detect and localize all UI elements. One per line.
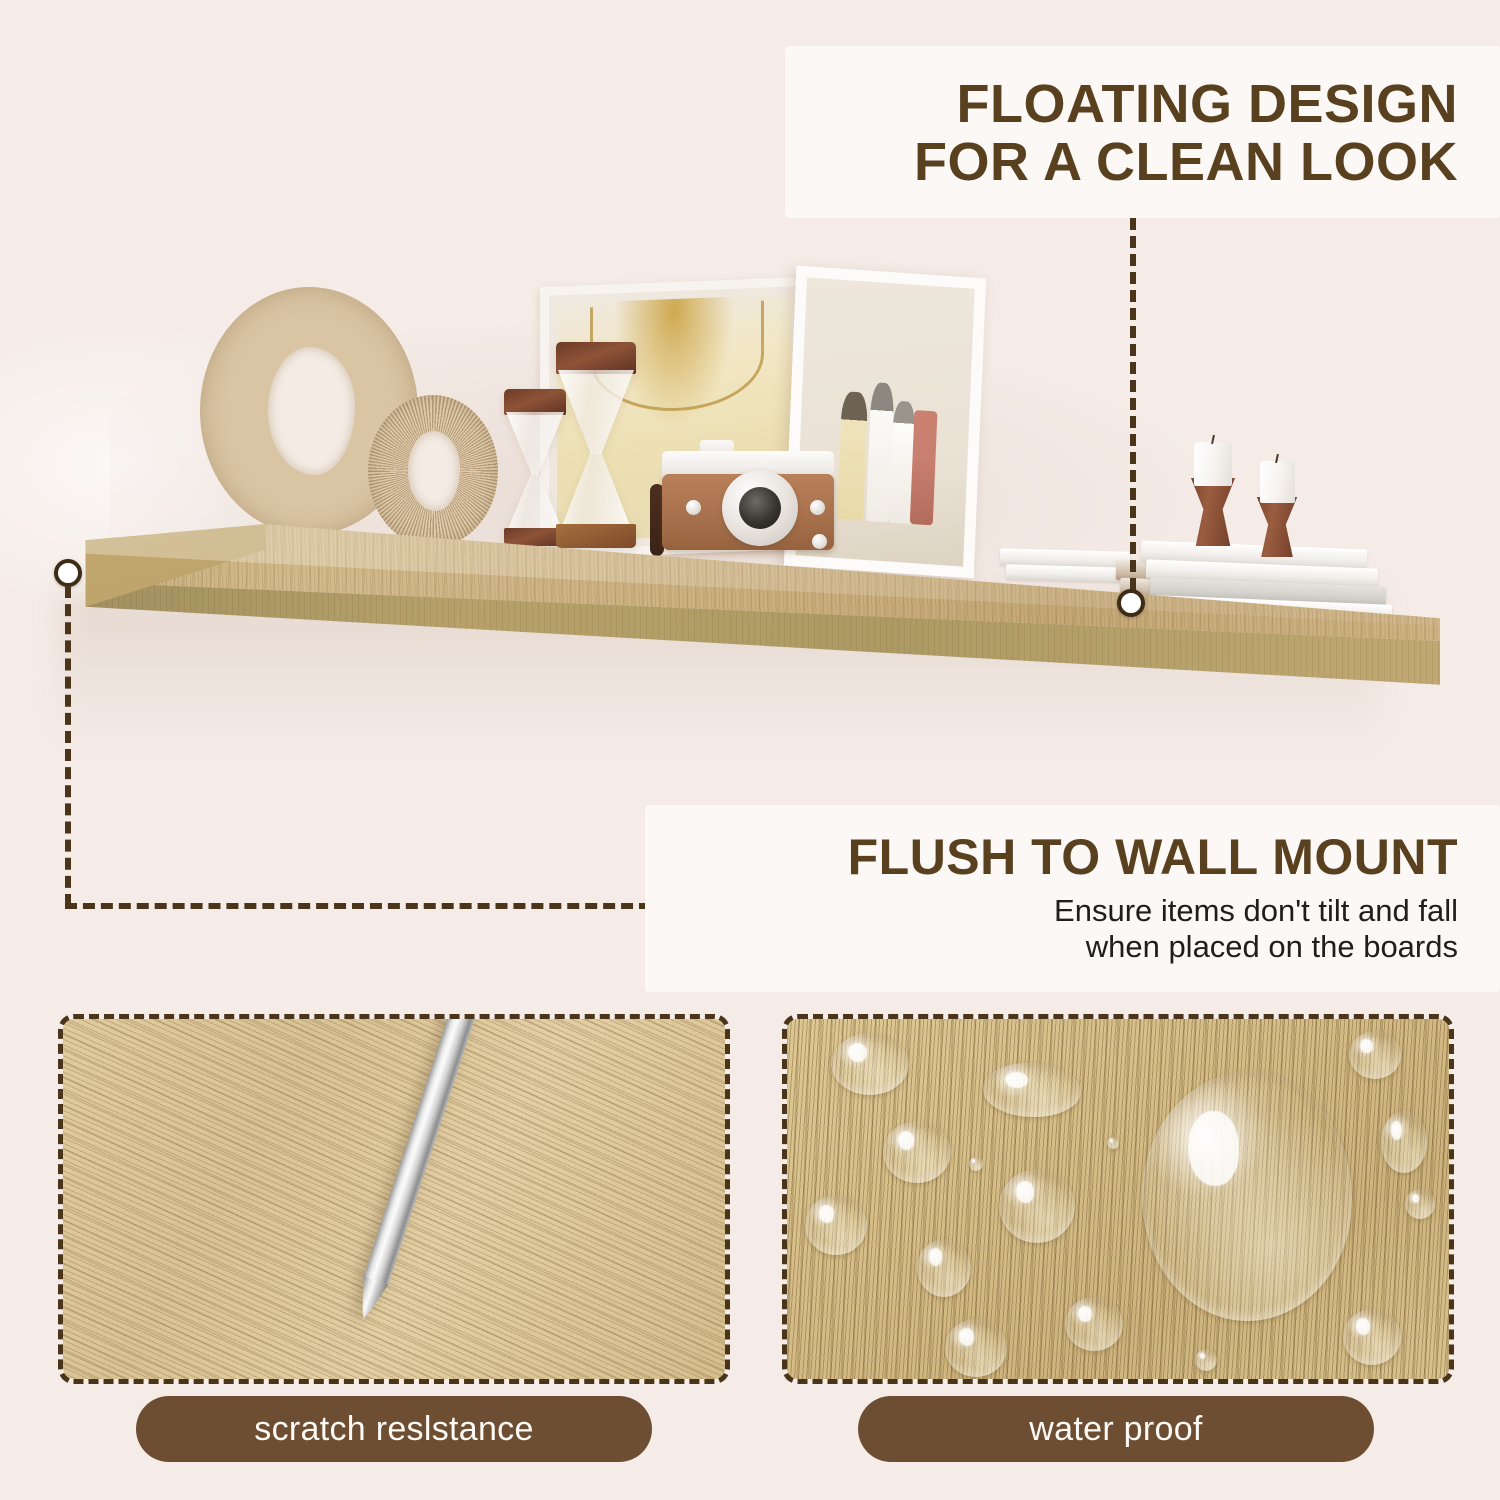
- pillar-candle-tall: [1194, 442, 1232, 486]
- water-droplet: [805, 1195, 867, 1255]
- callout-floating-design: FLOATING DESIGN FOR A CLEAN LOOK: [785, 46, 1500, 218]
- feature-panel-scratch-resistance: [58, 1014, 730, 1384]
- label-water-proof: water proof: [858, 1396, 1374, 1462]
- callout-floating-title-line2: FOR A CLEAN LOOK: [785, 134, 1458, 192]
- water-droplet: [883, 1121, 951, 1183]
- water-droplet: [999, 1169, 1075, 1243]
- leader-line-floating-vertical: [1130, 218, 1136, 590]
- hourglass-large-cap-top: [556, 342, 636, 374]
- art-bottle-1: [837, 391, 867, 520]
- water-droplet: [831, 1033, 909, 1095]
- callout-flush-to-wall: FLUSH TO WALL MOUNT Ensure items don't t…: [645, 805, 1500, 992]
- floating-shelf-board: [58, 508, 1440, 698]
- water-droplet: [945, 1319, 1007, 1377]
- callout-flush-subtitle-line1: Ensure items don't tilt and fall: [645, 893, 1458, 930]
- pillar-candle-short: [1260, 461, 1295, 503]
- water-droplet: [1381, 1111, 1427, 1173]
- water-droplet: [1349, 1031, 1401, 1079]
- callout-marker-floating: [1117, 589, 1145, 617]
- water-droplet: [969, 1157, 983, 1171]
- callout-floating-title-line1: FLOATING DESIGN: [785, 76, 1458, 134]
- water-droplet: [1107, 1137, 1119, 1149]
- hourglass-small-cap-top: [504, 389, 566, 415]
- feature-panel-water-proof: [782, 1014, 1454, 1384]
- water-droplet: [983, 1063, 1081, 1117]
- water-droplet: [917, 1239, 971, 1297]
- water-droplet: [1065, 1297, 1123, 1351]
- water-droplet: [1142, 1071, 1352, 1321]
- water-droplet: [1405, 1189, 1435, 1219]
- infographic-canvas: FLOATING DESIGN FOR A CLEAN LOOK FLUSH T…: [0, 0, 1500, 1500]
- callout-marker-flush: [54, 559, 82, 587]
- water-droplet: [1343, 1309, 1401, 1365]
- label-scratch-resistance: scratch reslstance: [136, 1396, 652, 1462]
- leader-line-flush-horizontal: [65, 903, 651, 909]
- callout-flush-title: FLUSH TO WALL MOUNT: [645, 831, 1458, 885]
- water-droplet: [1195, 1349, 1217, 1371]
- leader-line-flush-vertical: [65, 586, 71, 906]
- callout-flush-subtitle-line2: when placed on the boards: [645, 929, 1458, 966]
